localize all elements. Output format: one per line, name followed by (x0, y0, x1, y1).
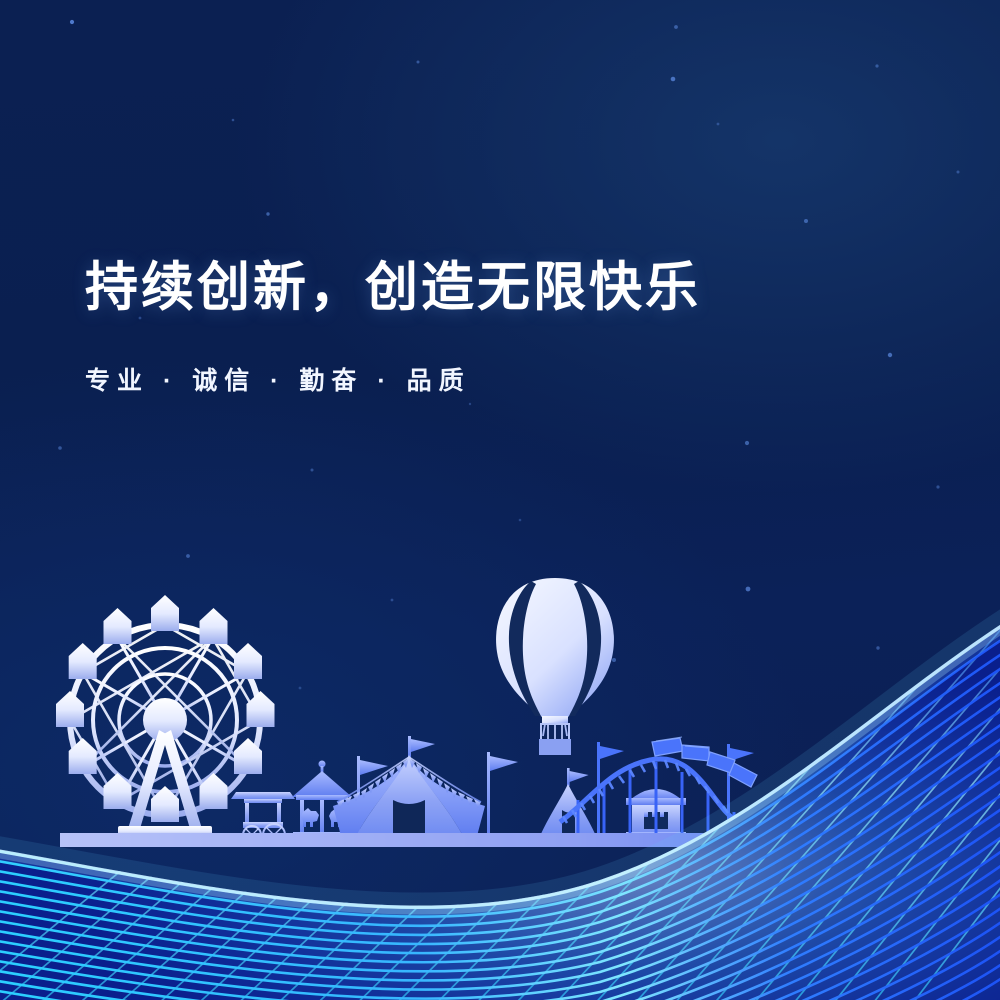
poster-canvas: 持续创新，创造无限快乐 专业 · 诚信 · 勤奋 · 品质 (0, 0, 1000, 1000)
wave-mesh-graphic (0, 0, 1000, 1000)
